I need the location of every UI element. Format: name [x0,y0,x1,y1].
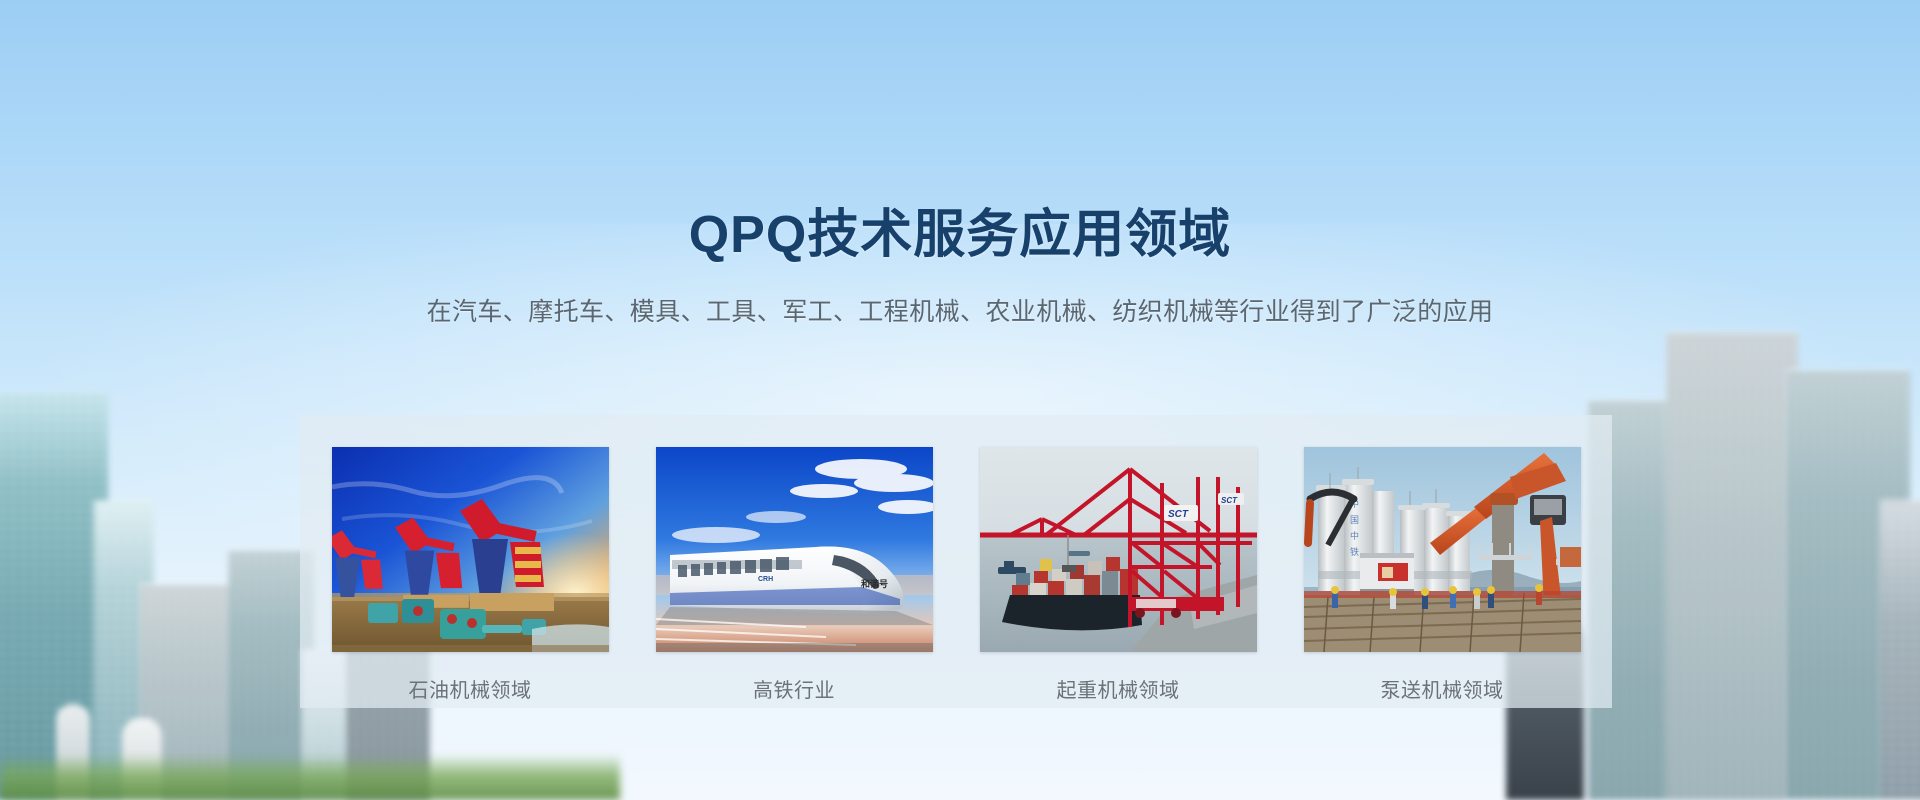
svg-text:SCT: SCT [1221,496,1238,505]
heading-block: QPQ技术服务应用领域 在汽车、摩托车、模具、工具、军工、工程机械、农业机械、纺… [0,206,1920,328]
svg-text:CRH: CRH [758,576,773,583]
page-subtitle: 在汽车、摩托车、模具、工具、军工、工程机械、农业机械、纺织机械等行业得到了广泛的… [0,292,1920,328]
card-caption: 泵送机械领域 [1304,674,1581,703]
svg-text:和谐号: 和谐号 [860,578,888,589]
application-card[interactable]: 中国中铁 [1304,447,1581,703]
application-card[interactable]: SCT SCT 起重机械领域 [980,447,1257,703]
application-card-list: 石油机械领域 [300,415,1612,708]
card-caption: 高铁行业 [656,674,933,703]
application-card[interactable]: CRH 和谐号 高铁行业 [656,447,933,703]
svg-text:中: 中 [1350,530,1359,541]
card-caption: 石油机械领域 [332,674,609,703]
concrete-pump-site-photo[interactable]: 中国中铁 [1304,447,1581,652]
applications-panel: 石油机械领域 [300,415,1612,708]
high-speed-train-photo[interactable]: CRH 和谐号 [656,447,933,652]
svg-text:国: 国 [1350,515,1359,525]
port-gantry-cranes-photo[interactable]: SCT SCT [980,447,1257,652]
page-title: QPQ技术服务应用领域 [0,206,1920,266]
application-card[interactable]: 石油机械领域 [332,447,609,703]
svg-text:SCT: SCT [1168,509,1189,520]
svg-text:铁: 铁 [1350,546,1359,557]
oil-pumpjacks-sunset-photo[interactable] [332,447,609,652]
foliage-strip [0,754,620,800]
card-caption: 起重机械领域 [980,674,1257,703]
